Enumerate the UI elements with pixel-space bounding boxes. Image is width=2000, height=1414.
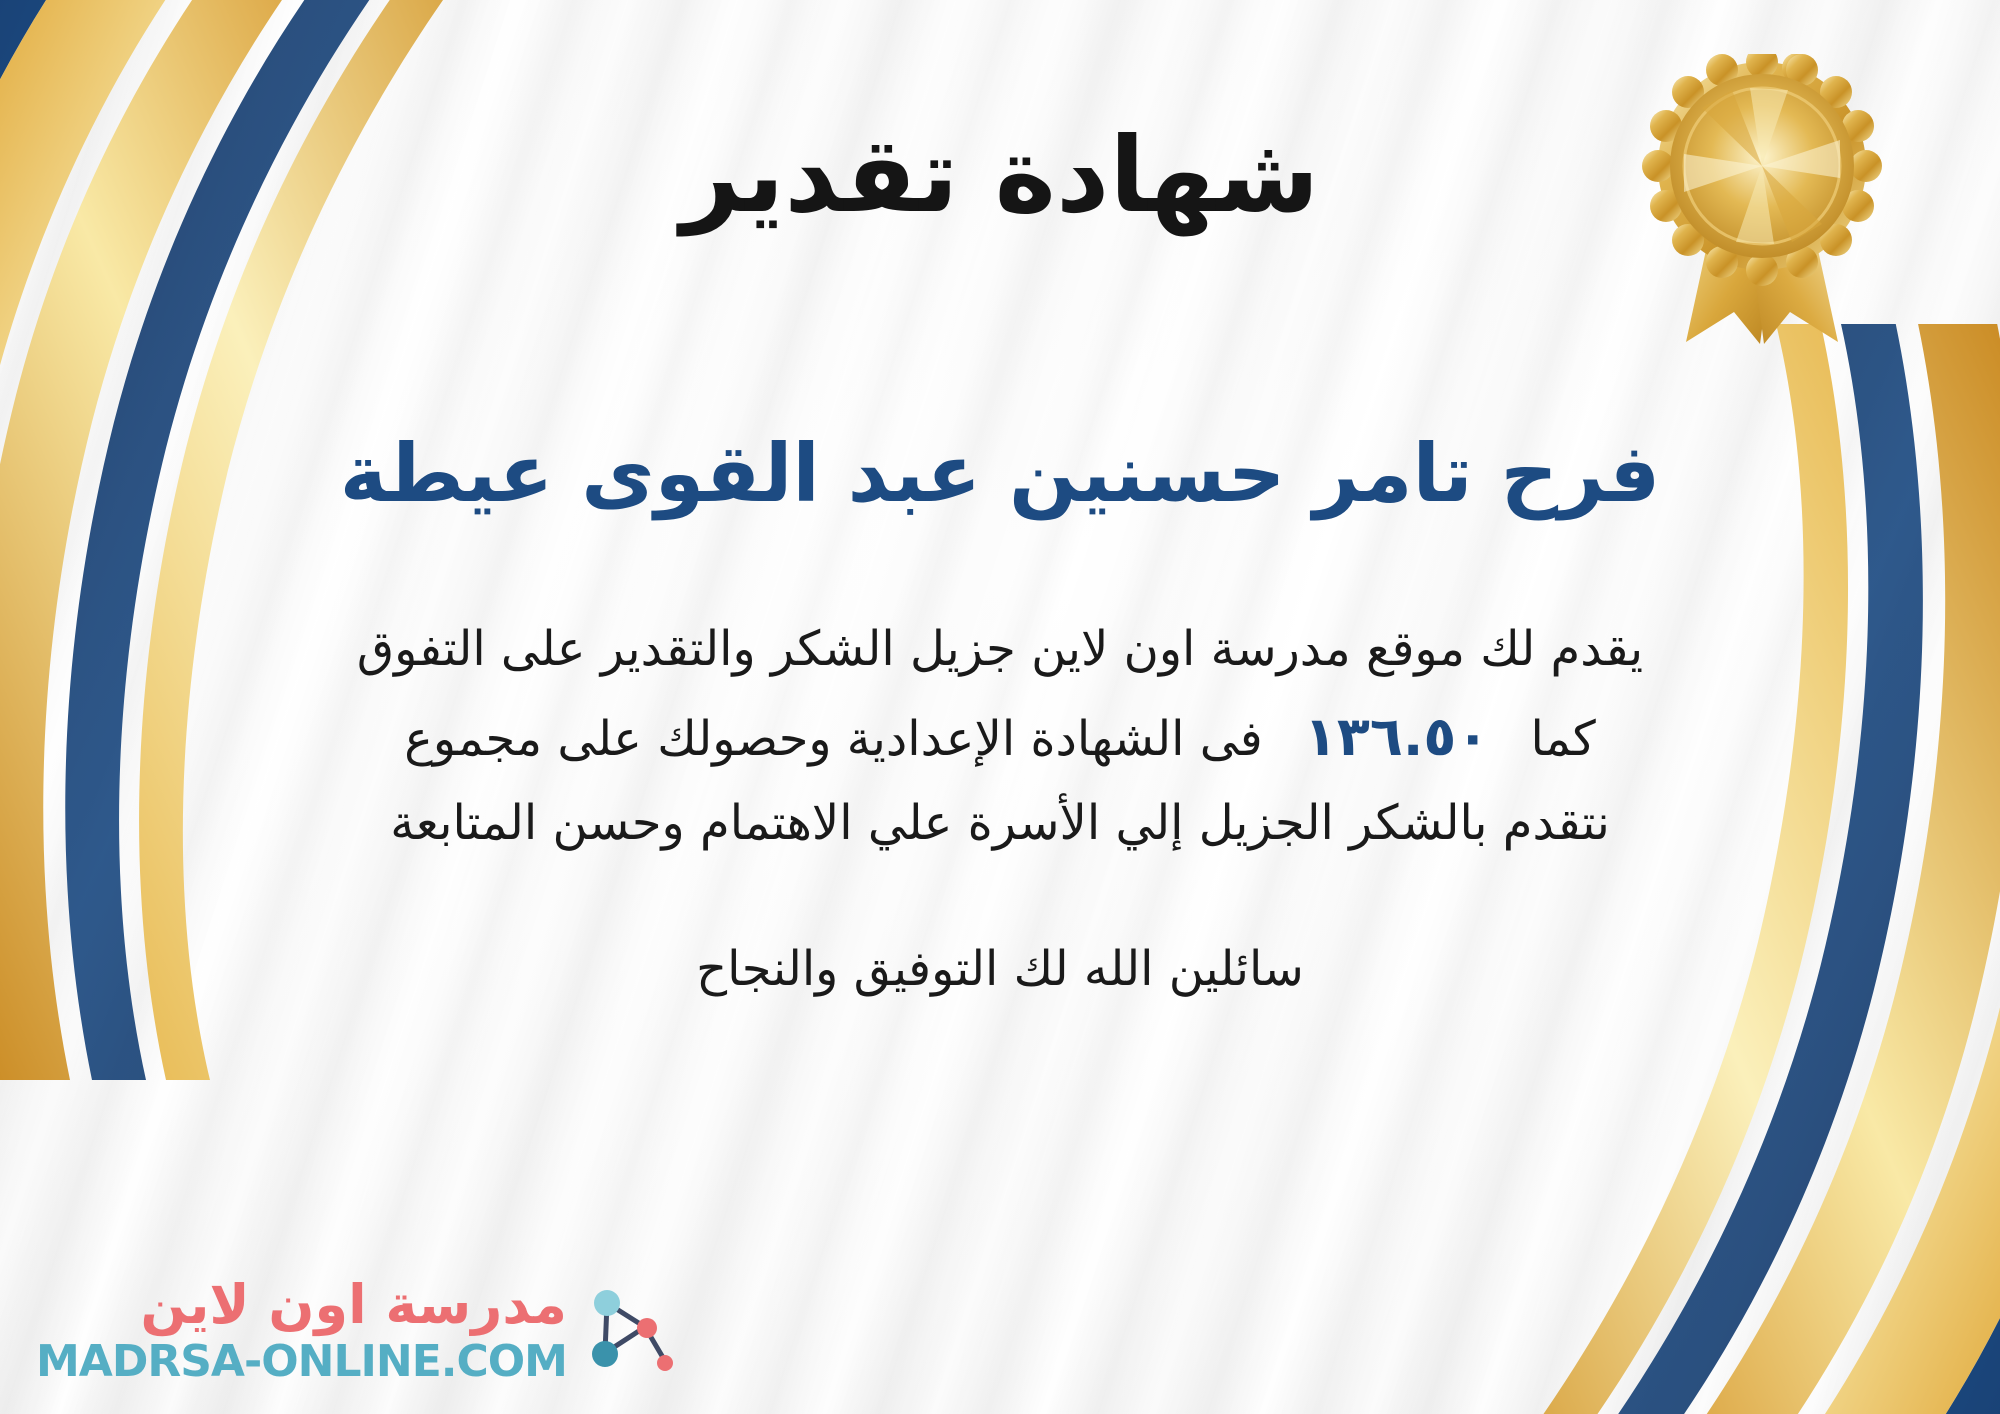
- network-nodes-icon: [581, 1283, 673, 1379]
- closing-wish: سائلين الله لك التوفيق والنجاح: [696, 941, 1304, 997]
- certificate-page: شهادة تقدير فرح تامر حسنين عبد القوى عيط…: [0, 0, 2000, 1414]
- recipient-name: فرح تامر حسنين عبد القوى عيطة: [340, 428, 1661, 520]
- brand-logo[interactable]: مدرسة اون لاين MADRSA-ONLINE.COM: [36, 1278, 673, 1384]
- body-line-1: يقدم لك موقع مدرسة اون لاين جزيل الشكر و…: [220, 612, 1780, 688]
- brand-website: MADRSA-ONLINE.COM: [36, 1340, 567, 1384]
- brand-text: مدرسة اون لاين MADRSA-ONLINE.COM: [36, 1278, 567, 1384]
- grade-value: ١٣٦.٥٠: [1278, 705, 1515, 768]
- body-line-2-after: كما: [1531, 711, 1596, 767]
- brand-arabic-name: مدرسة اون لاين: [141, 1278, 567, 1332]
- body-line-2: كما ١٣٦.٥٠ فى الشهادة الإعدادية وحصولك ع…: [220, 694, 1780, 779]
- body-line-2-before: فى الشهادة الإعدادية وحصولك على مجموع: [404, 711, 1262, 767]
- certificate-body: يقدم لك موقع مدرسة اون لاين جزيل الشكر و…: [220, 612, 1780, 867]
- certificate-content: شهادة تقدير فرح تامر حسنين عبد القوى عيط…: [0, 0, 2000, 1414]
- body-line-3: نتقدم بالشكر الجزيل إلي الأسرة علي الاهت…: [220, 786, 1780, 862]
- page-title: شهادة تقدير: [681, 118, 1320, 232]
